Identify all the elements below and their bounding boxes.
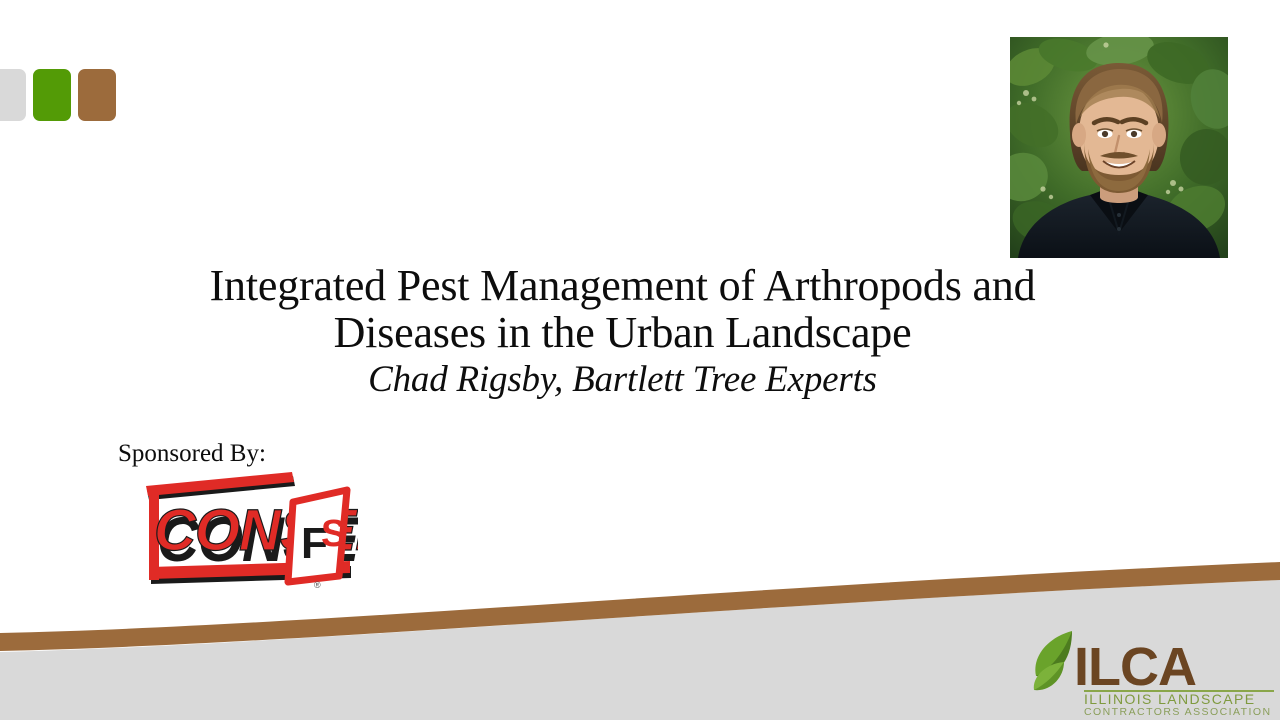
ilca-logo: ILCA ILLINOIS LANDSCAPE CONTRACTORS ASSO… <box>1026 628 1276 716</box>
decorative-square-green <box>33 69 71 121</box>
title-line-1: Integrated Pest Management of Arthropods… <box>90 262 1155 309</box>
decorative-squares <box>0 69 116 121</box>
ilca-logo-graphic: ILCA ILLINOIS LANDSCAPE CONTRACTORS ASSO… <box>1026 628 1276 716</box>
conserv-top-bar <box>146 472 295 500</box>
sponsored-by-label: Sponsored By: <box>118 440 266 468</box>
ilca-tagline-line-2: CONTRACTORS ASSOCIATION <box>1084 706 1272 716</box>
ilca-acronym: ILCA <box>1074 637 1196 697</box>
presentation-slide: Integrated Pest Management of Arthropods… <box>0 0 1280 720</box>
headshot-illustration <box>1010 37 1228 258</box>
presenter-headshot-photo <box>1010 37 1228 258</box>
ilca-tagline-line-1: ILLINOIS LANDSCAPE <box>1084 691 1255 707</box>
presenter-name: Chad Rigsby, Bartlett Tree Experts <box>90 356 1155 404</box>
leaf-icon <box>1034 631 1072 690</box>
slide-title-block: Integrated Pest Management of Arthropods… <box>90 262 1155 404</box>
decorative-square-gray <box>0 69 26 121</box>
title-line-2: Diseases in the Urban Landscape <box>90 309 1155 356</box>
decorative-square-brown <box>78 69 116 121</box>
